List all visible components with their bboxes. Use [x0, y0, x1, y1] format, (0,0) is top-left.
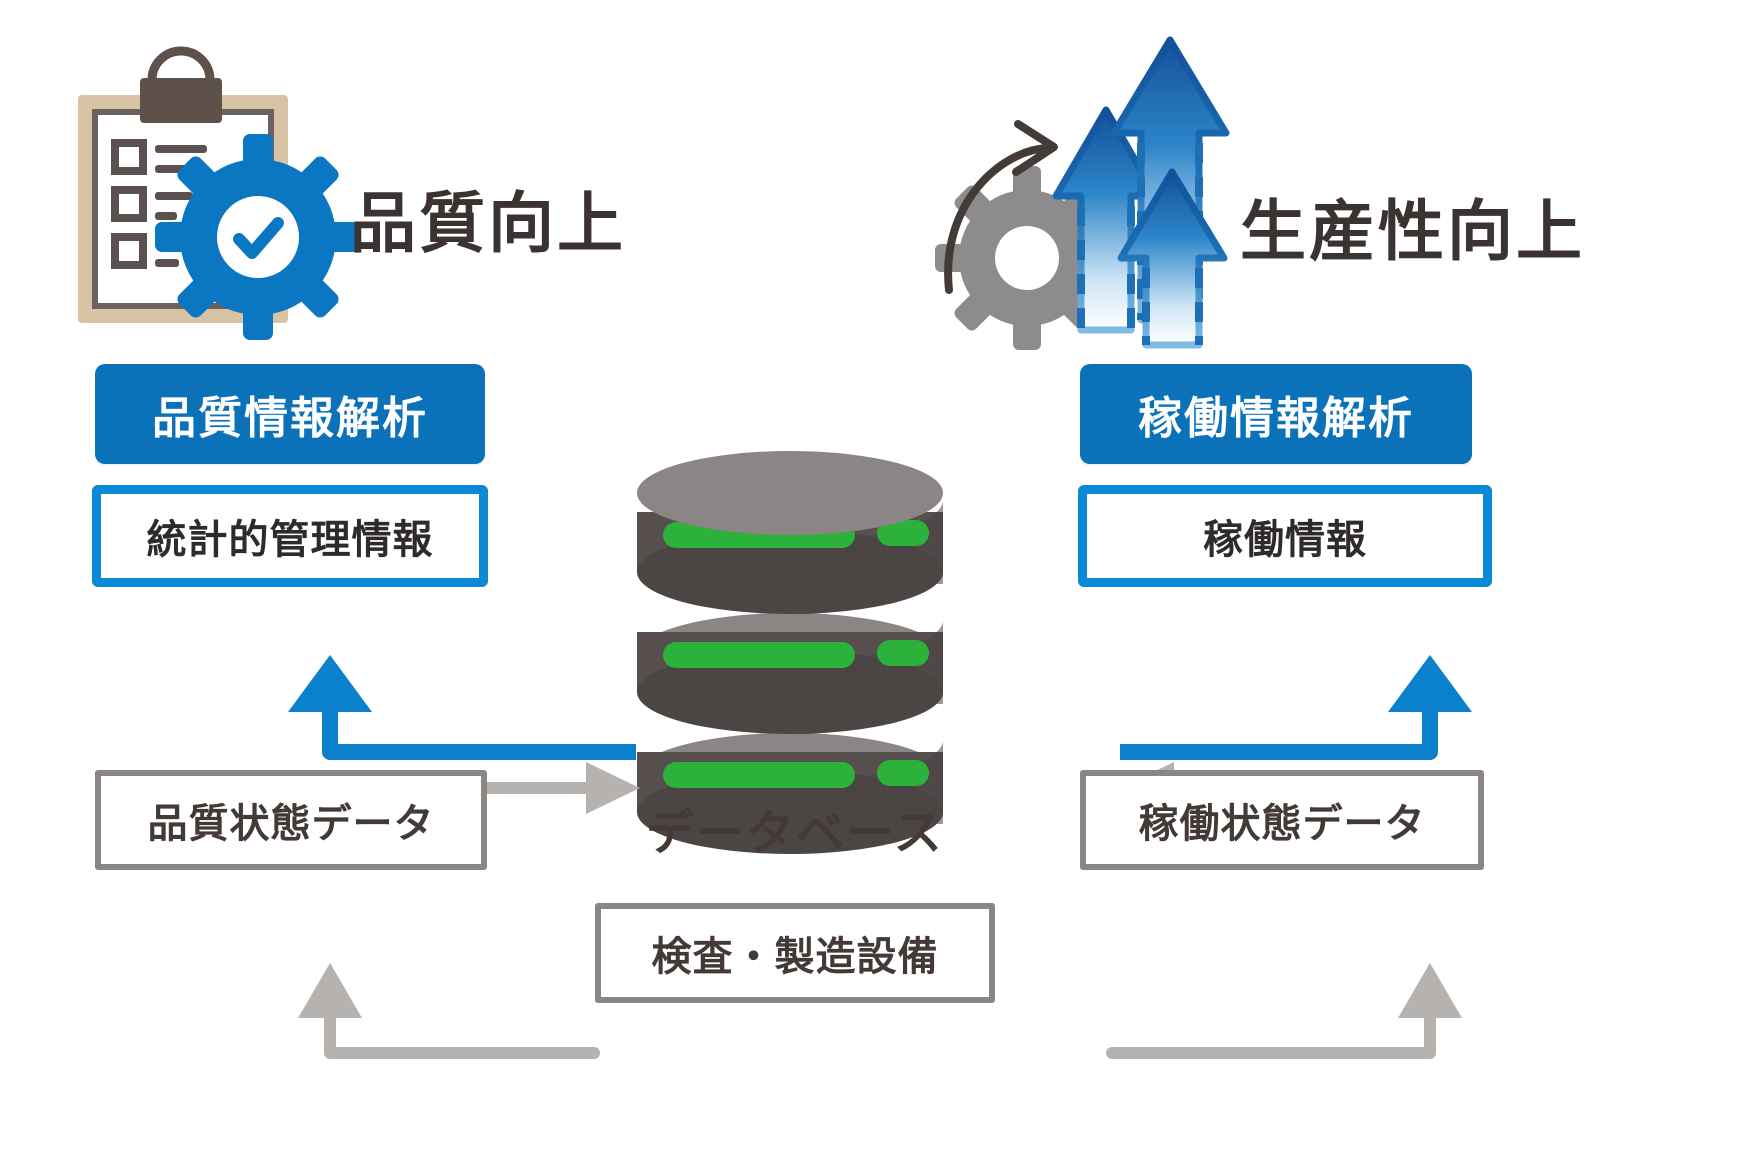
- box-operation-analysis[interactable]: 稼働情報解析: [1080, 364, 1472, 464]
- box-statistical-management-info[interactable]: 統計的管理情報: [92, 485, 488, 587]
- connector-db-to-operation-info: [1120, 655, 1472, 752]
- curved-arrow-icon: [948, 124, 1054, 290]
- connector-equipment-to-quality-data: [298, 963, 594, 1053]
- database-label: データベース: [646, 793, 944, 863]
- up-arrow-icon: [1114, 40, 1226, 320]
- gear-icon: [935, 166, 1119, 350]
- connector-equipment-to-operation-data: [1112, 963, 1462, 1053]
- box-operation-info[interactable]: 稼働情報: [1078, 485, 1492, 587]
- box-inspection-manufacturing-equipment[interactable]: 検査・製造設備: [595, 903, 995, 1003]
- page-title-quality: 品質向上: [350, 170, 626, 266]
- page-title-productivity: 生産性向上: [1240, 178, 1585, 274]
- box-operation-state-data[interactable]: 稼働状態データ: [1080, 770, 1484, 870]
- box-quality-state-data[interactable]: 品質状態データ: [95, 770, 487, 870]
- diagram-canvas: 品質向上 生産性向上 品質情報解析 統計的管理情報 品質状態データ 稼働情報解析…: [0, 0, 1760, 1166]
- up-arrow-icon: [1121, 172, 1224, 345]
- gear-check-icon: [155, 134, 361, 340]
- connector-db-to-quality-info: [288, 655, 636, 752]
- box-quality-analysis[interactable]: 品質情報解析: [95, 364, 485, 464]
- clipboard-checklist-icon: [78, 51, 288, 323]
- up-arrow-icon: [1056, 110, 1156, 330]
